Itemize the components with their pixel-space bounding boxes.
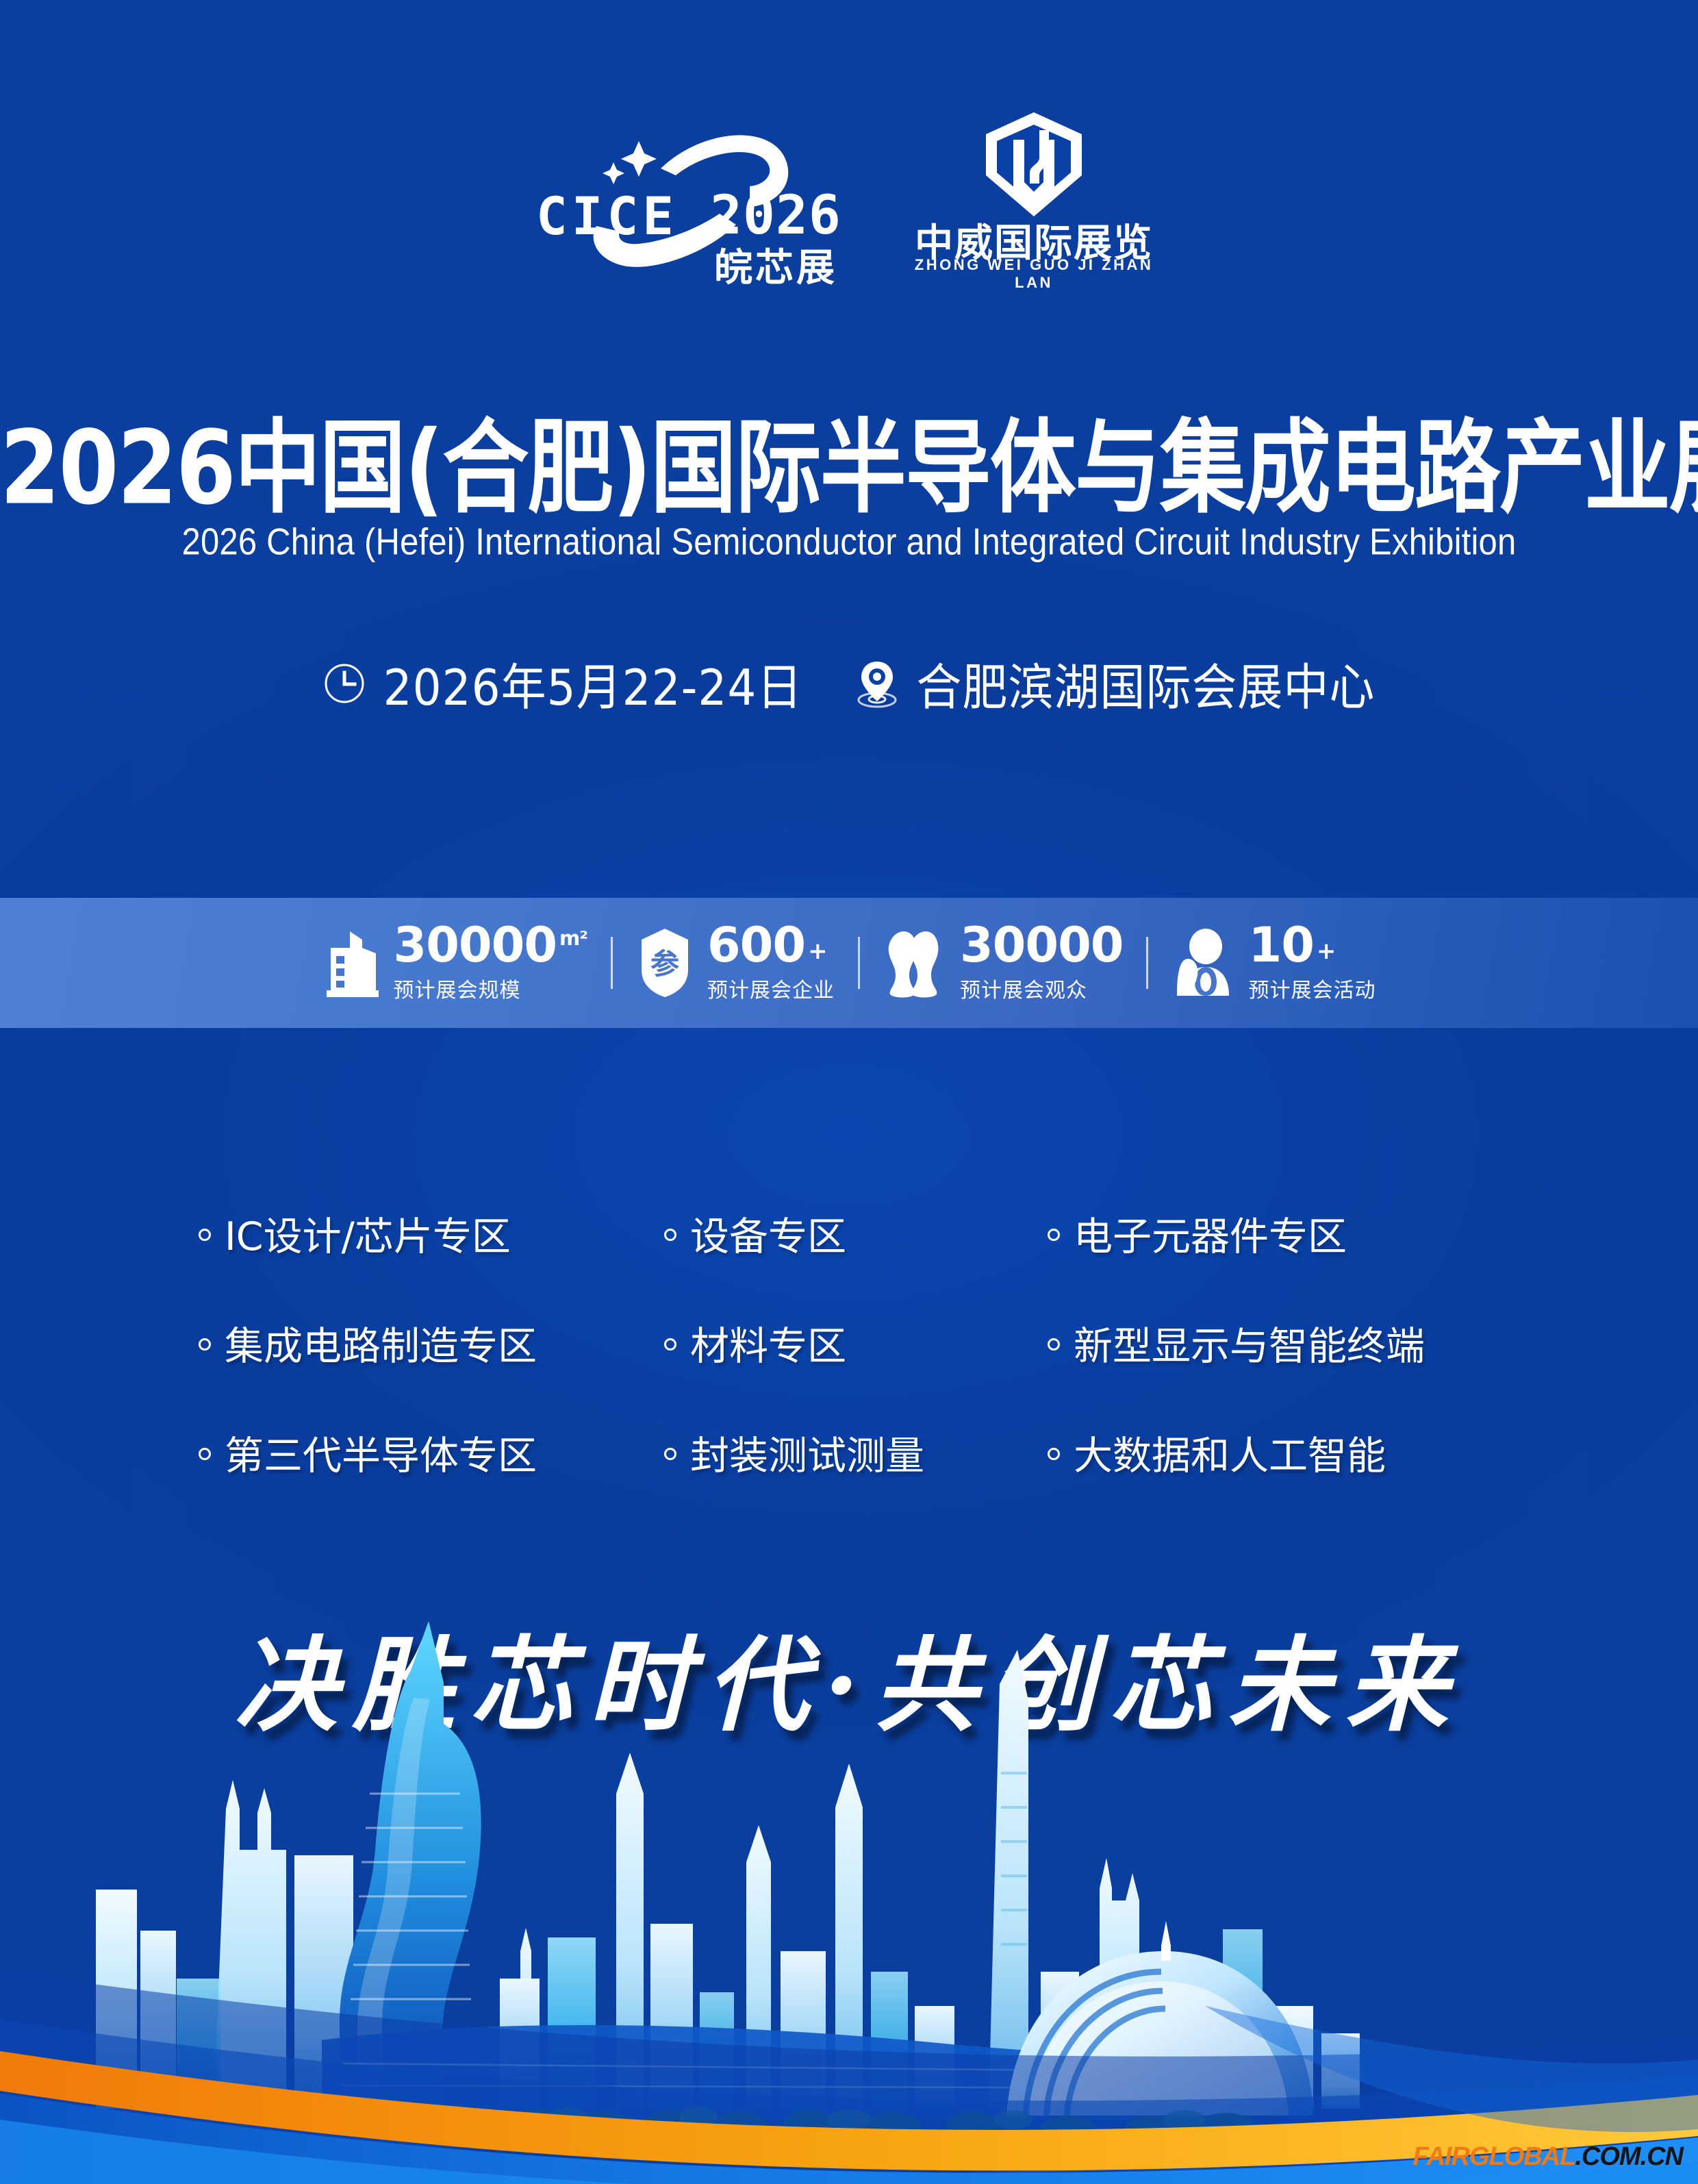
stat-label: 预计展会规模 <box>394 973 587 1003</box>
stat-label: 预计展会企业 <box>707 973 835 1003</box>
exhibit-category-grid: IC设计/芯片专区 设备专区 电子元器件专区 集成电路制造专区 材料专区 新型显… <box>199 1205 1404 1481</box>
category-label: 新型显示与智能终端 <box>1074 1315 1425 1371</box>
building-icon <box>322 927 380 999</box>
stat-value-group: 600 + <box>707 922 835 968</box>
stat-value: 30000 <box>960 922 1124 968</box>
logo-row: CICE 2026 皖芯展 中威国际展览 ZHONG WEI GUO JI ZH… <box>0 110 1698 288</box>
category-item[interactable]: IC设计/芯片专区 <box>199 1205 664 1262</box>
clock-icon <box>323 662 366 705</box>
category-item[interactable]: 大数据和人工智能 <box>1048 1424 1404 1481</box>
cice-logo: CICE 2026 皖芯展 <box>531 110 852 288</box>
stat-label: 预计展会活动 <box>1248 973 1376 1003</box>
stat-unit: m² <box>559 929 587 949</box>
stat-value-group: 30000 <box>960 922 1124 968</box>
cice-wordmark: CICE <box>536 190 678 242</box>
category-item[interactable]: 新型显示与智能终端 <box>1048 1315 1404 1371</box>
stat-plus: + <box>808 940 827 963</box>
bullet-circle-icon <box>1048 1448 1060 1460</box>
stats-band: 30000 m² 预计展会规模 参 600 + 预计展会企业 <box>0 898 1698 1028</box>
category-label: IC设计/芯片专区 <box>225 1205 511 1262</box>
cice-year: 2026 <box>710 189 841 242</box>
category-label: 集成电路制造专区 <box>225 1315 537 1371</box>
category-item[interactable]: 第三代半导体专区 <box>199 1424 664 1481</box>
watermark-brand: FAIRGLOBAL <box>1412 2142 1575 2171</box>
person-icon <box>1171 927 1234 999</box>
crowd-icon <box>883 927 946 999</box>
watermark: FAIRGLOBAL.COM.CN <box>1412 2142 1683 2172</box>
bullet-circle-icon <box>199 1229 211 1241</box>
bullet-circle-icon <box>664 1229 676 1241</box>
stat-value-group: 30000 m² <box>394 922 587 968</box>
category-label: 材料专区 <box>690 1315 846 1371</box>
category-label: 第三代半导体专区 <box>225 1424 537 1481</box>
category-label: 封装测试测量 <box>690 1424 924 1481</box>
bullet-circle-icon <box>199 1338 211 1351</box>
stat-plus: + <box>1317 940 1336 963</box>
svg-text:参: 参 <box>650 947 679 981</box>
category-item[interactable]: 电子元器件专区 <box>1048 1205 1404 1262</box>
category-item[interactable]: 设备专区 <box>664 1205 1048 1262</box>
category-label: 大数据和人工智能 <box>1074 1424 1386 1481</box>
stat-label: 预计展会观众 <box>960 973 1124 1003</box>
exhibition-poster: CICE 2026 皖芯展 中威国际展览 ZHONG WEI GUO JI ZH… <box>0 0 1698 2184</box>
event-date: 2026年5月22-24日 <box>323 651 803 716</box>
bullet-circle-icon <box>664 1338 676 1351</box>
category-label: 电子元器件专区 <box>1074 1205 1347 1262</box>
stat-events: 10 + 预计展会活动 <box>1148 922 1399 1003</box>
stat-exhibition-area: 30000 m² 预计展会规模 <box>299 922 611 1003</box>
stat-value-group: 10 + <box>1248 922 1376 968</box>
bullet-circle-icon <box>664 1448 676 1460</box>
shield-can-icon: 参 <box>636 927 694 999</box>
bullet-circle-icon <box>1048 1338 1060 1351</box>
zhongwei-pinyin: ZHONG WEI GUO JI ZHAN LAN <box>900 256 1167 292</box>
bullet-circle-icon <box>1048 1229 1060 1241</box>
watermark-tld: .COM.CN <box>1575 2142 1683 2171</box>
location-pin-icon <box>856 659 898 708</box>
event-meta-row: 2026年5月22-24日 合肥滨湖国际会展中心 <box>0 651 1698 716</box>
bullet-circle-icon <box>199 1448 211 1460</box>
stat-value: 600 <box>707 922 805 968</box>
category-item[interactable]: 封装测试测量 <box>664 1424 1048 1481</box>
event-venue: 合肥滨湖国际会展中心 <box>856 651 1375 716</box>
page-title-english: 2026 China (Hefei) International Semicon… <box>0 520 1698 564</box>
stat-value: 30000 <box>394 922 557 968</box>
category-item[interactable]: 材料专区 <box>664 1315 1048 1371</box>
page-title-chinese: 2026中国(合肥)国际半导体与集成电路产业展览会 <box>0 411 1698 525</box>
event-date-text: 2026年5月22-24日 <box>383 647 803 720</box>
zhongwei-logo: 中威国际展览 ZHONG WEI GUO JI ZHAN LAN <box>900 110 1167 284</box>
cice-chinese-name: 皖芯展 <box>714 237 837 292</box>
category-label: 设备专区 <box>690 1205 846 1262</box>
city-skyline-illustration <box>0 1568 1698 2184</box>
stat-value: 10 <box>1248 922 1313 968</box>
zw-monogram-icon <box>972 110 1095 219</box>
event-venue-text: 合肥滨湖国际会展中心 <box>916 647 1375 720</box>
stat-visitors: 30000 预计展会观众 <box>860 922 1147 1003</box>
category-item[interactable]: 集成电路制造专区 <box>199 1315 664 1371</box>
stat-exhibitors: 参 600 + 预计展会企业 <box>613 922 858 1003</box>
